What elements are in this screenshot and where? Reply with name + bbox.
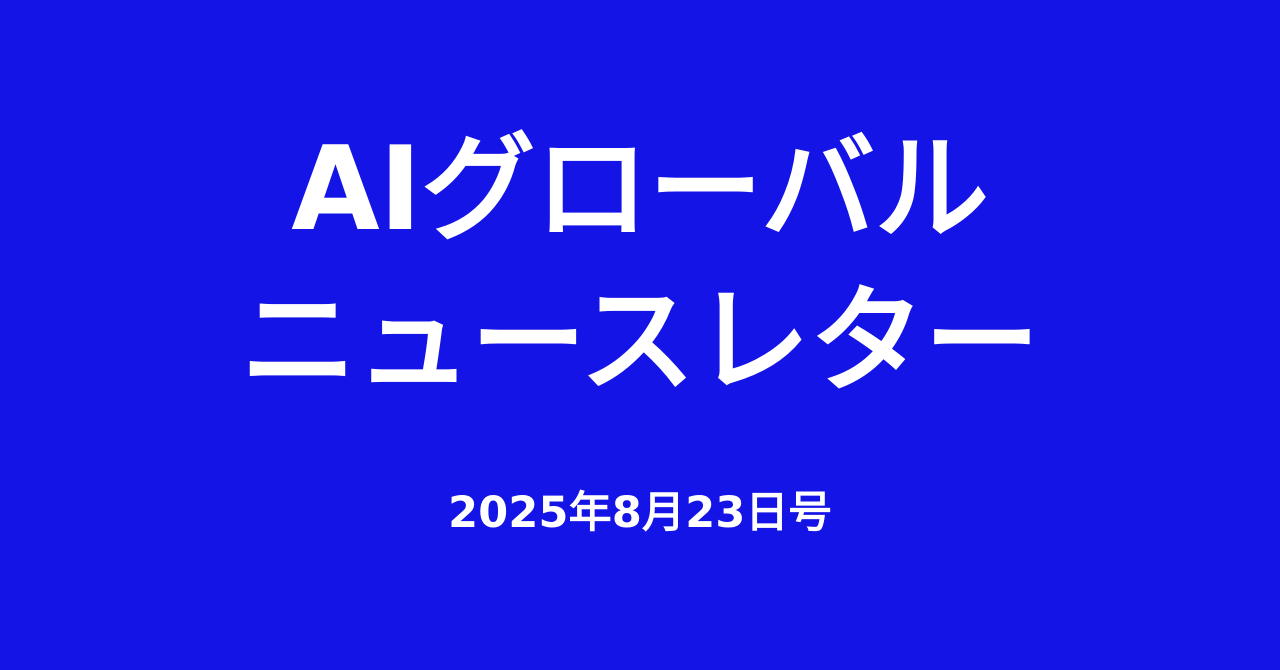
title-line-secondary: ニュースレター [241,284,1039,400]
issue-date-label: 2025年8月23日号 [448,492,832,535]
newsletter-hero-card: AIグローバル ニュースレター 2025年8月23日号 [0,0,1280,670]
title-line-primary: AIグローバル [291,132,988,248]
title-block: AIグローバル ニュースレター [0,132,1280,400]
